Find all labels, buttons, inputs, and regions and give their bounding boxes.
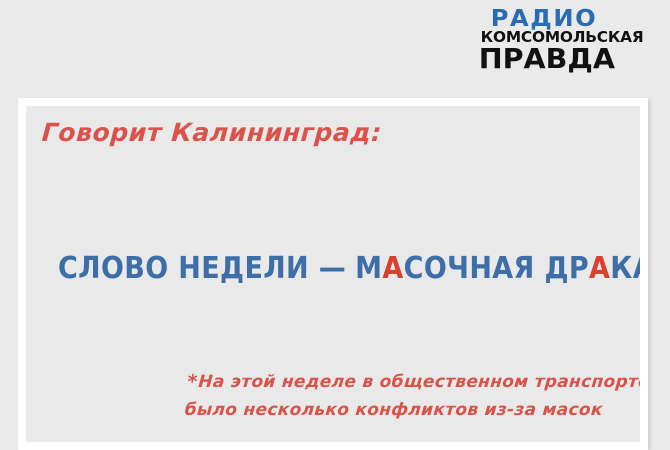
intro-text: Говорит Калининград: xyxy=(41,118,383,147)
logo-line-radio: РАДИО xyxy=(477,8,611,30)
headline-segment-6: КА xyxy=(610,251,640,286)
headline-segment-2: М xyxy=(355,251,382,286)
headline-segment-5-accent: А xyxy=(589,251,610,286)
footnote: *На этой неделе в общественном транспорт… xyxy=(184,368,640,424)
footnote-line-2: было несколько конфликтов из-за масок xyxy=(184,397,640,423)
logo-line-pravda: ПРАВДА xyxy=(479,46,610,73)
content-card-inner: Говорит Калининград: СЛОВО НЕДЕЛИ — МАСО… xyxy=(26,106,640,442)
headline: СЛОВО НЕДЕЛИ — МАСОЧНАЯ ДРАКА xyxy=(58,254,640,284)
page-header: РАДИО КОМСОМОЛЬСКАЯ ПРАВДА xyxy=(0,0,670,98)
content-card: Говорит Калининград: СЛОВО НЕДЕЛИ — МАСО… xyxy=(18,98,648,450)
headline-segment-1: — xyxy=(319,251,355,286)
footnote-line-1-text: На этой неделе в общественном транспорте xyxy=(198,372,640,392)
footnote-line-1: *На этой неделе в общественном транспорт… xyxy=(186,368,640,397)
headline-segment-0: СЛОВО НЕДЕЛИ xyxy=(58,251,319,286)
radio-komsomolskaya-pravda-logo[interactable]: РАДИО КОМСОМОЛЬСКАЯ ПРАВДА xyxy=(480,8,608,73)
headline-segment-4: СОЧНАЯ ДР xyxy=(404,251,589,286)
headline-segment-3-accent: А xyxy=(382,251,403,286)
